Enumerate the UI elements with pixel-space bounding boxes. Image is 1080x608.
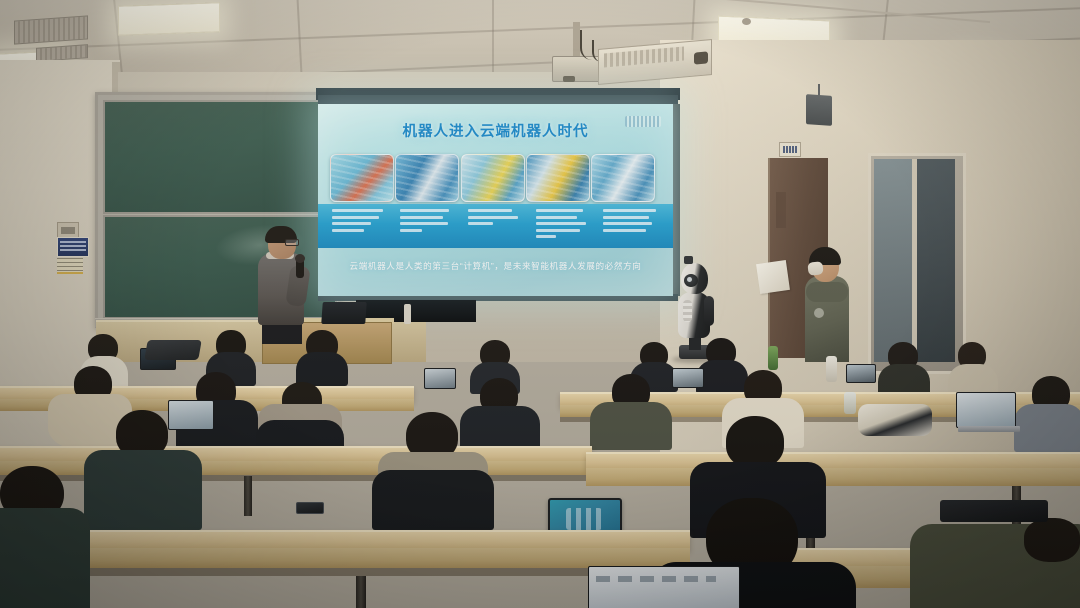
slide-thumbnail-3 (461, 154, 525, 202)
blue-notice-sign (57, 237, 89, 257)
desk-row-1-shadow (0, 568, 690, 576)
slide-thumbnail-2 (395, 154, 459, 202)
backpack-1 (858, 404, 932, 436)
desk-leg-5 (356, 576, 366, 608)
slide-caption-col-3 (468, 209, 524, 248)
window-pane-left (874, 159, 912, 362)
robot-sensor (684, 256, 693, 264)
sprinkler-icon (742, 18, 751, 25)
slide-caption-col-4 (536, 209, 592, 248)
notebook-on-desk[interactable] (940, 500, 1048, 522)
desk-row-1-face (0, 548, 690, 568)
desk-row-2b-face (586, 468, 1080, 486)
robot-eye (687, 277, 692, 282)
standing-attendee-hood (806, 282, 848, 302)
face-mask-icon (807, 261, 823, 275)
microphone-stand[interactable] (404, 304, 411, 324)
slide-caption-col-2 (400, 209, 456, 248)
slide-footer-text: 云端机器人是人类的第三台“计算机”，是未来智能机器人发展的必然方向 (318, 260, 673, 272)
door-vision-panel (776, 192, 786, 228)
ceiling-light-1 (118, 2, 220, 36)
hoodie-logo (814, 308, 824, 318)
slide-thumbnail-row (330, 154, 655, 200)
projector-mount-pole (573, 22, 580, 58)
laptop-screen-content (596, 576, 716, 582)
water-glass-1[interactable] (844, 392, 856, 414)
wall-speaker (806, 94, 832, 126)
door-notice-paper (756, 260, 790, 294)
robot-arm (704, 296, 714, 326)
exit-sign (779, 142, 801, 157)
thermos-1[interactable] (826, 356, 837, 382)
projection-screen: 机器人进入云端机器人时代 (318, 104, 673, 296)
chair-back (144, 340, 202, 360)
air-conditioner-sensor (694, 51, 708, 64)
tablet-app-icon-grid (566, 508, 602, 530)
slide-caption-col-5 (603, 209, 659, 248)
slide-caption-band (318, 204, 673, 248)
phone-on-desk-2[interactable] (296, 502, 324, 514)
yellow-strip-sign (57, 258, 83, 274)
slide-thumbnail-5 (591, 154, 655, 202)
desk-leg-3 (244, 476, 252, 516)
ceiling-vent (14, 15, 88, 44)
slide-caption-col-1 (332, 209, 388, 248)
projector-lens (563, 76, 575, 82)
slide-logo (625, 116, 661, 127)
robot-chest-panel (683, 300, 692, 322)
classroom-photo-scene: 机器人进入云端机器人时代 (0, 0, 1080, 608)
window-pane-right (917, 159, 955, 362)
water-bottle-1[interactable] (768, 346, 778, 370)
lectern-laptop[interactable] (321, 302, 367, 324)
microphone-head (295, 254, 305, 263)
glasses-icon (285, 239, 299, 246)
slide-title: 机器人进入云端机器人时代 (318, 120, 673, 141)
blackboard-panel-upper (103, 100, 337, 214)
slide-thumbnail-4 (526, 154, 590, 202)
slide-thumbnail-1 (330, 154, 394, 202)
desk-row-1-top (0, 530, 690, 550)
